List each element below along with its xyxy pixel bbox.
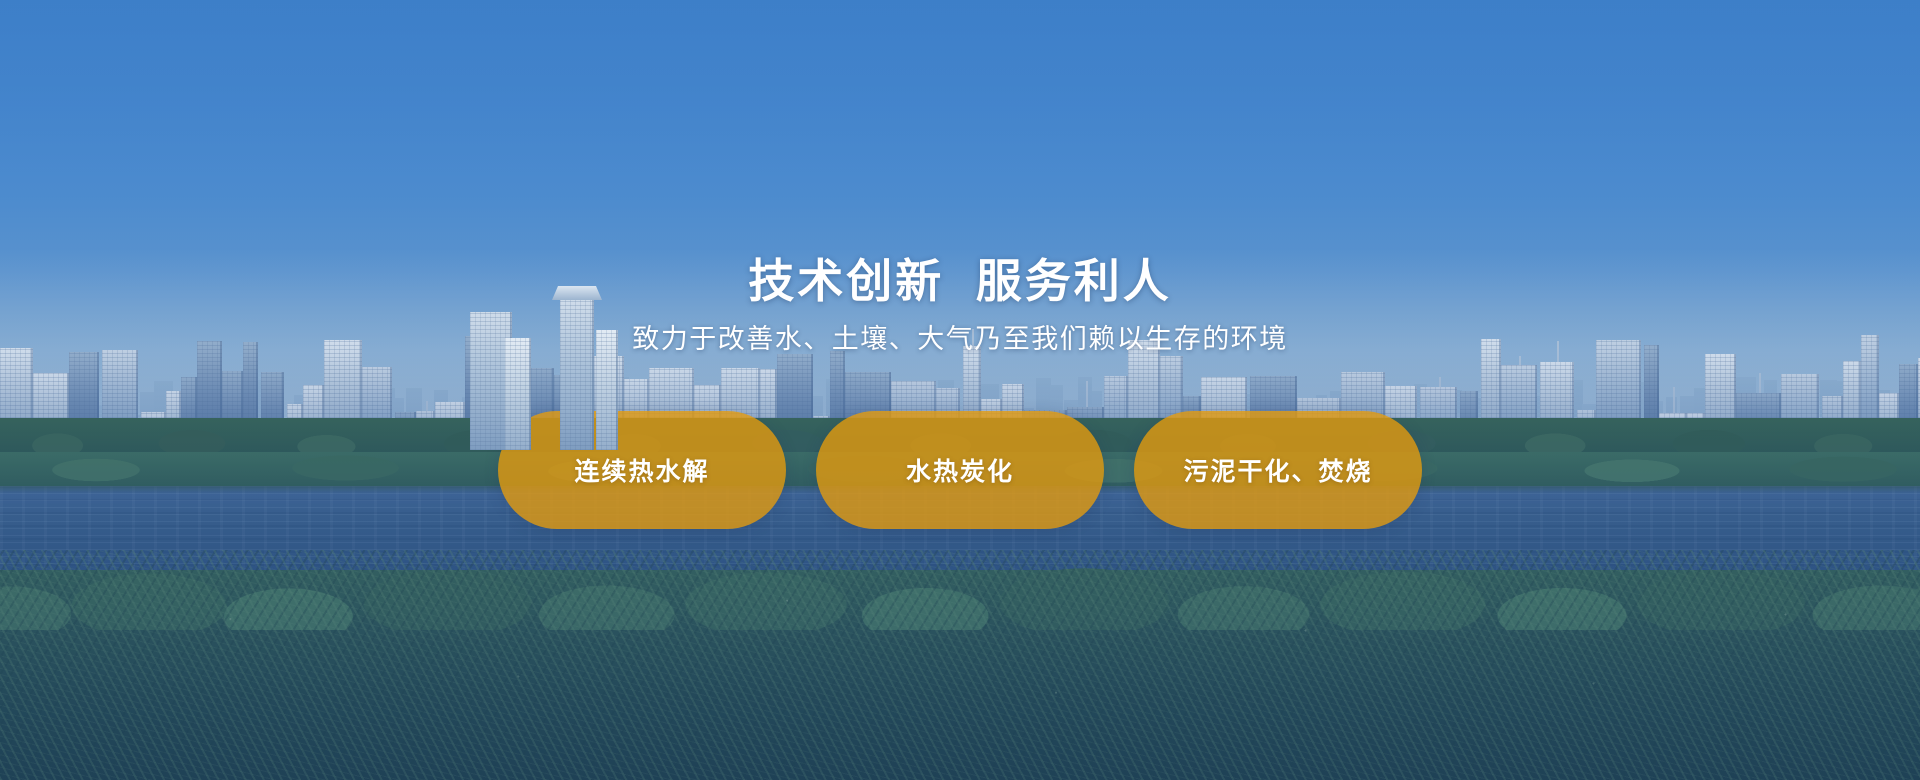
hero-banner: 技术创新 服务利人 致力于改善水、土壤、大气乃至我们赖以生存的环境 连续热水解 … bbox=[0, 0, 1920, 780]
service-button-continuous-thermal-hydrolysis[interactable]: 连续热水解 bbox=[498, 411, 786, 529]
service-button-label: 水热炭化 bbox=[906, 452, 1014, 488]
page-subtitle: 致力于改善水、土壤、大气乃至我们赖以生存的环境 bbox=[632, 326, 1288, 353]
page-title: 技术创新 服务利人 bbox=[748, 258, 1172, 304]
service-button-hydrothermal-carbonization[interactable]: 水热炭化 bbox=[816, 411, 1104, 529]
hero-content: 技术创新 服务利人 致力于改善水、土壤、大气乃至我们赖以生存的环境 连续热水解 … bbox=[0, 0, 1920, 780]
service-button-label: 污泥干化、焚烧 bbox=[1183, 452, 1372, 488]
service-button-row: 连续热水解 水热炭化 污泥干化、焚烧 bbox=[498, 411, 1422, 529]
service-button-label: 连续热水解 bbox=[574, 452, 709, 488]
service-button-sludge-drying-incineration[interactable]: 污泥干化、焚烧 bbox=[1134, 411, 1422, 529]
